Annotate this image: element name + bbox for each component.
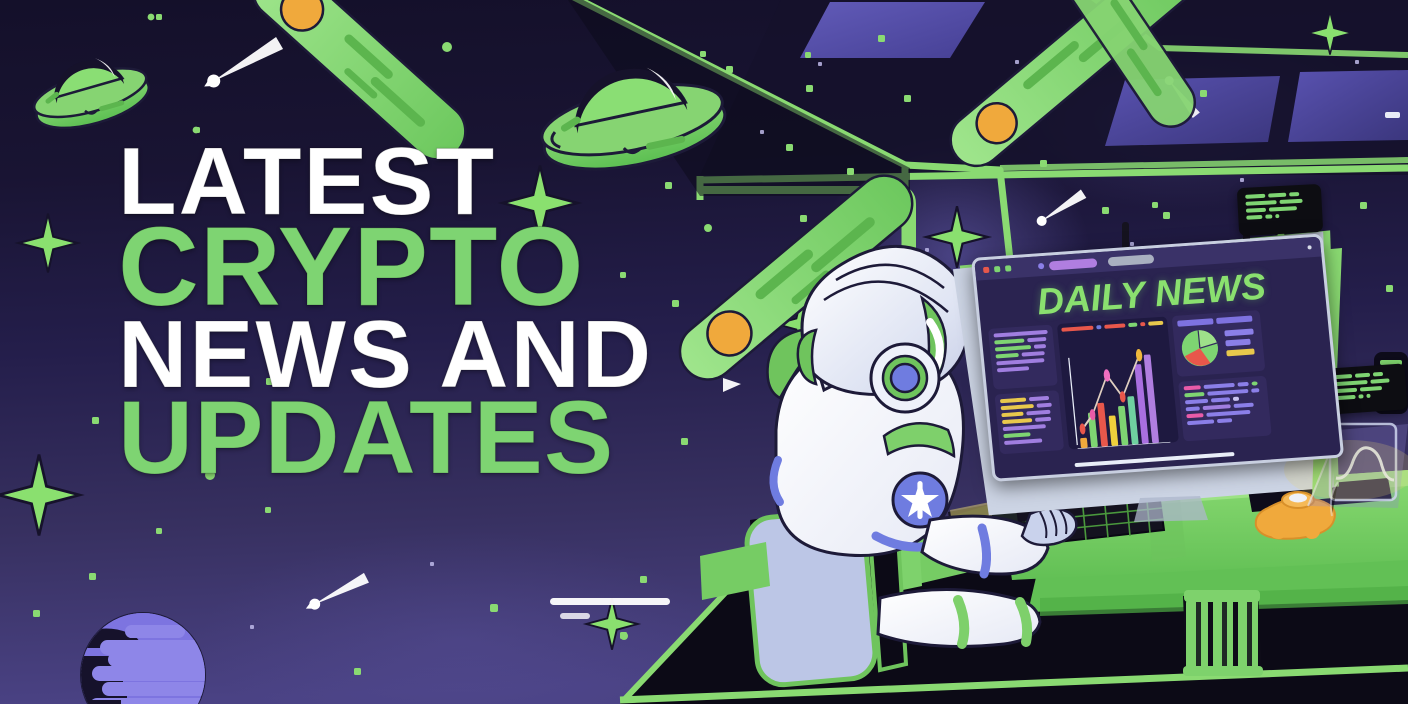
dashboard-panels: [981, 305, 1339, 461]
comet-far-right: [1037, 0, 1204, 136]
horizontal-scrollbar[interactable]: [1075, 452, 1235, 467]
dashboard-left-column: [988, 324, 1064, 454]
tab-favicon-dot: [1038, 263, 1045, 269]
ufo-small: [26, 46, 155, 139]
dashboard-center-column: [1057, 316, 1179, 449]
canisters: [1183, 590, 1263, 676]
menu-dot-icon[interactable]: [1307, 245, 1311, 249]
comet-bottom-left-small: [748, 525, 886, 631]
badge-emblem: [893, 473, 947, 527]
browser-tab[interactable]: [1049, 258, 1098, 270]
monitor-screen[interactable]: DAILY NEWS: [971, 233, 1344, 481]
helmet: [798, 246, 971, 412]
combo-chart: [1062, 329, 1175, 450]
planet-striped: [51, 613, 220, 704]
window-maximize-dot[interactable]: [1005, 265, 1012, 271]
planet-mars: [1040, 572, 1408, 704]
left-card-bottom[interactable]: [994, 390, 1064, 455]
right-card-pie[interactable]: [1172, 310, 1266, 376]
comet-center: [669, 164, 924, 391]
window-close-dot[interactable]: [983, 267, 990, 273]
console-desk: [620, 452, 1408, 704]
window-minimize-dot[interactable]: [994, 266, 1001, 272]
hero-headline: LATEST CRYPTO NEWS AND UPDATES: [118, 140, 653, 485]
left-card-top[interactable]: [988, 324, 1058, 389]
right-card-list[interactable]: [1178, 375, 1272, 441]
comet-top-right: [940, 0, 1205, 177]
dashboard-right-column: [1172, 310, 1272, 442]
chair: [700, 502, 906, 687]
headline-line-4: UPDATES: [118, 393, 653, 485]
pie-chart: [1178, 327, 1222, 370]
keyboard: [1016, 486, 1164, 546]
glove: [1022, 508, 1076, 545]
center-chart-card[interactable]: [1057, 316, 1179, 449]
address-bar[interactable]: [1108, 254, 1155, 266]
hero-banner: LATEST CRYPTO NEWS AND UPDATES DAILY NEW…: [0, 0, 1408, 704]
terminal-top-right[interactable]: [1237, 184, 1323, 236]
